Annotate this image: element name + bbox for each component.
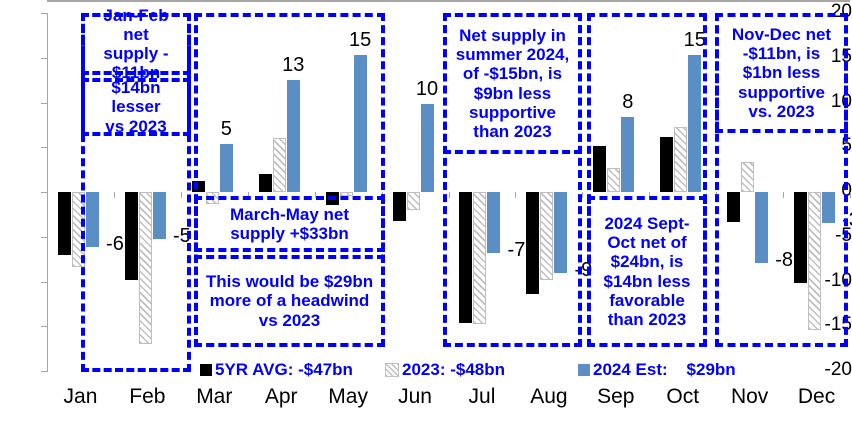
x-axis-tick bbox=[582, 192, 583, 198]
legend-swatch-icon bbox=[385, 363, 399, 377]
x-axis-label-nov: Nov bbox=[718, 385, 782, 409]
annotation-summer-outer bbox=[443, 13, 582, 347]
annotation-jan-feb-outer bbox=[81, 13, 191, 372]
legend-swatch-icon bbox=[578, 364, 590, 376]
chart-legend: 5YR AVG: -$47bn2023: -$48bn2024 Est: $29… bbox=[200, 358, 850, 382]
chart-root: 20151050-5-10-15-20 -6-55131510-7-9815-8… bbox=[0, 0, 852, 424]
bar-jun-series-3 bbox=[421, 104, 434, 192]
x-axis-label-jul: Jul bbox=[450, 385, 514, 409]
legend-item-2[interactable]: 2023: -$48bn bbox=[385, 360, 505, 380]
x-axis-label-sep: Sep bbox=[584, 385, 648, 409]
zero-baseline bbox=[47, 0, 850, 2]
legend-item-1[interactable]: 5YR AVG: -$47bn bbox=[200, 360, 353, 380]
bar-jun-series-1 bbox=[393, 192, 406, 221]
legend-swatch-icon bbox=[200, 364, 212, 376]
x-axis-label-dec: Dec bbox=[785, 385, 849, 409]
x-axis-tick bbox=[850, 192, 851, 198]
x-axis-label-aug: Aug bbox=[517, 385, 581, 409]
legend-label: 2023: -$48bn bbox=[402, 360, 505, 380]
x-axis-label-may: May bbox=[316, 385, 380, 409]
y-axis-line bbox=[47, 13, 48, 371]
y-axis-tick bbox=[41, 371, 48, 372]
bar-jun-series-2 bbox=[407, 192, 420, 210]
x-axis-label-jan: Jan bbox=[48, 385, 112, 409]
x-axis-label-oct: Oct bbox=[651, 385, 715, 409]
bar-jan-series-1 bbox=[58, 192, 71, 255]
x-axis-label-apr: Apr bbox=[249, 385, 313, 409]
x-axis-label-feb: Feb bbox=[115, 385, 179, 409]
legend-label: 2024 Est: $29bn bbox=[593, 360, 736, 380]
annotation-sept-oct-outer bbox=[587, 13, 707, 347]
x-axis-label-jun: Jun bbox=[383, 385, 447, 409]
legend-item-3[interactable]: 2024 Est: $29bn bbox=[578, 360, 736, 380]
legend-label: 5YR AVG: -$47bn bbox=[215, 360, 353, 380]
x-axis-label-mar: Mar bbox=[182, 385, 246, 409]
annotation-nov-dec-outer bbox=[715, 13, 848, 347]
annotation-mar-may-outer bbox=[194, 13, 385, 347]
